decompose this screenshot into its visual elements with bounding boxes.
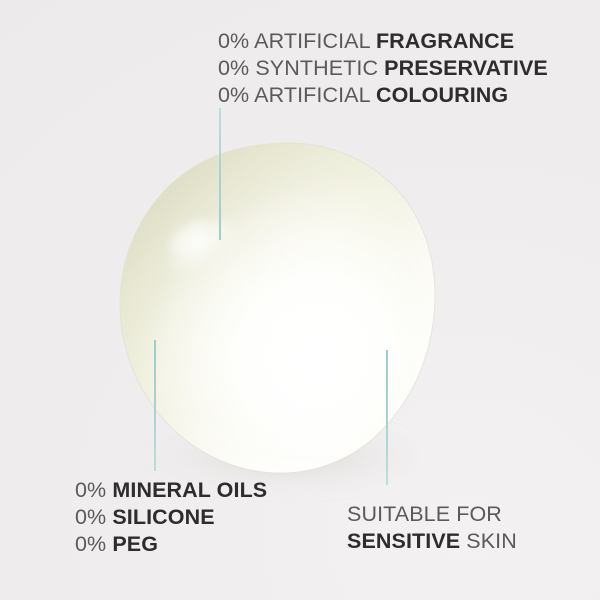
claim-lead: SUITABLE FOR	[347, 502, 502, 526]
leader-line-top	[219, 108, 221, 240]
claim-trail: SKIN	[460, 529, 517, 553]
claim-emphasis: COLOURING	[376, 83, 508, 107]
claim-lead: 0%	[75, 478, 112, 502]
claim-line: SENSITIVE SKIN	[347, 528, 517, 555]
claim-line: 0% SILICONE	[75, 504, 267, 531]
claim-emphasis: SENSITIVE	[347, 529, 460, 553]
claim-emphasis: PEG	[112, 532, 158, 556]
claim-lead: 0%	[75, 532, 112, 556]
claim-line: 0% SYNTHETIC PRESERVATIVE	[218, 55, 548, 82]
claim-line: 0% MINERAL OILS	[75, 477, 267, 504]
claim-lead: 0% ARTIFICIAL	[218, 29, 376, 53]
claim-emphasis: PRESERVATIVE	[384, 56, 548, 80]
claim-lead: 0% SYNTHETIC	[218, 56, 384, 80]
leader-line-left	[154, 340, 156, 471]
claim-line: 0% ARTIFICIAL FRAGRANCE	[218, 28, 548, 55]
claim-emphasis: MINERAL OILS	[112, 478, 267, 502]
claims-bottom-right: SUITABLE FOR SENSITIVE SKIN	[347, 501, 517, 555]
claim-lead: 0%	[75, 505, 112, 529]
claims-top: 0% ARTIFICIAL FRAGRANCE 0% SYNTHETIC PRE…	[218, 28, 548, 109]
claim-line: 0% ARTIFICIAL COLOURING	[218, 82, 548, 109]
claims-bottom-left: 0% MINERAL OILS 0% SILICONE 0% PEG	[75, 477, 267, 558]
claim-lead: 0% ARTIFICIAL	[218, 83, 376, 107]
claim-line: SUITABLE FOR	[347, 501, 517, 528]
leader-line-right	[386, 350, 388, 485]
claim-emphasis: SILICONE	[112, 505, 214, 529]
serum-droplet	[118, 140, 438, 476]
claim-line: 0% PEG	[75, 531, 267, 558]
product-claims-infographic: 0% ARTIFICIAL FRAGRANCE 0% SYNTHETIC PRE…	[0, 0, 600, 600]
claim-emphasis: FRAGRANCE	[376, 29, 514, 53]
